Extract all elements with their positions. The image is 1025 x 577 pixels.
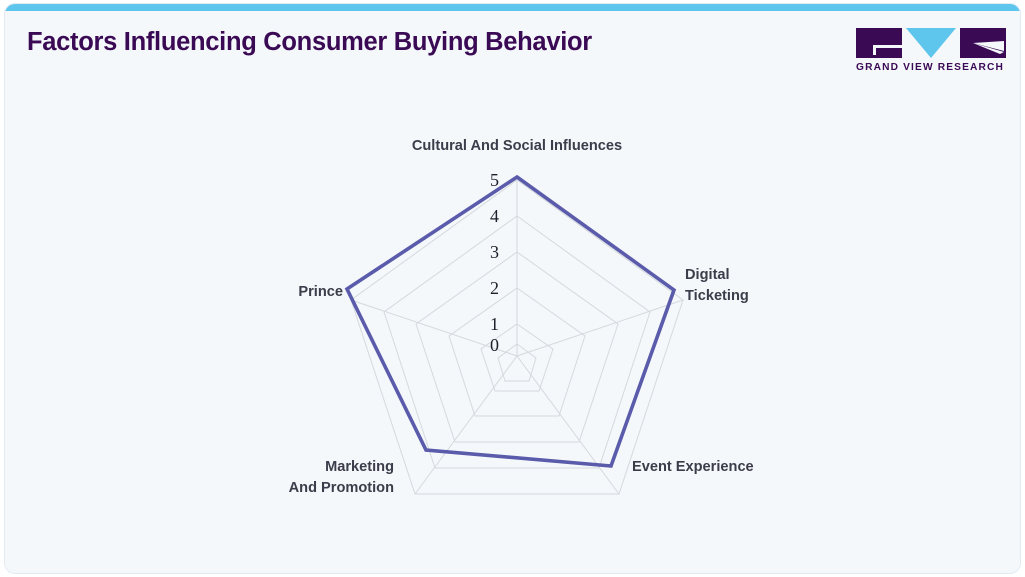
logo-marks	[856, 28, 1006, 60]
logo-g-block-icon	[856, 28, 902, 58]
logo-r-arrow-notch	[960, 28, 1006, 58]
category-label-marketing-and-promotion-line2: And Promotion	[289, 480, 394, 496]
tick-label-2: 2	[490, 278, 499, 298]
spoke-2	[517, 356, 619, 494]
spoke-1	[517, 300, 683, 356]
chart-card: Factors Influencing Consumer Buying Beha…	[4, 3, 1021, 574]
tick-label-3: 3	[490, 242, 499, 262]
category-label-event-experience: Event Experience	[632, 459, 754, 475]
top-accent-bar	[5, 4, 1020, 11]
tick-label-5: 5	[490, 170, 499, 190]
tick-label-1: 1	[490, 314, 499, 334]
logo-v-triangle-icon	[906, 28, 956, 58]
logo-g-stub-notch	[873, 45, 876, 55]
logo-wordmark: GRAND VIEW RESEARCH	[856, 62, 1006, 73]
tick-label-0: 0	[490, 335, 499, 355]
category-label-prince: Prince	[298, 284, 343, 300]
radial-axis-tick-labels: 5 4 3 2 1 0	[490, 170, 499, 355]
radar-grid-spokes	[351, 180, 683, 494]
radar-chart: 5 4 3 2 1 0 Cultural And Social Influenc…	[5, 90, 1021, 560]
category-label-cultural-and-social-influences: Cultural And Social Influences	[412, 138, 622, 154]
tick-label-4: 4	[490, 206, 499, 226]
brand-logo: GRAND VIEW RESEARCH	[856, 28, 1006, 78]
category-label-marketing-and-promotion-line1: Marketing	[325, 459, 394, 475]
radar-chart-svg: 5 4 3 2 1 0 Cultural And Social Influenc…	[5, 90, 1021, 560]
page-title: Factors Influencing Consumer Buying Beha…	[27, 28, 592, 57]
category-label-digital-ticketing-line1: Digital	[685, 267, 730, 283]
logo-g-bar-notch	[873, 45, 902, 48]
screenshot-root: Factors Influencing Consumer Buying Beha…	[0, 0, 1025, 577]
spoke-3	[415, 356, 517, 494]
category-label-digital-ticketing-line2: Ticketing	[685, 288, 749, 304]
